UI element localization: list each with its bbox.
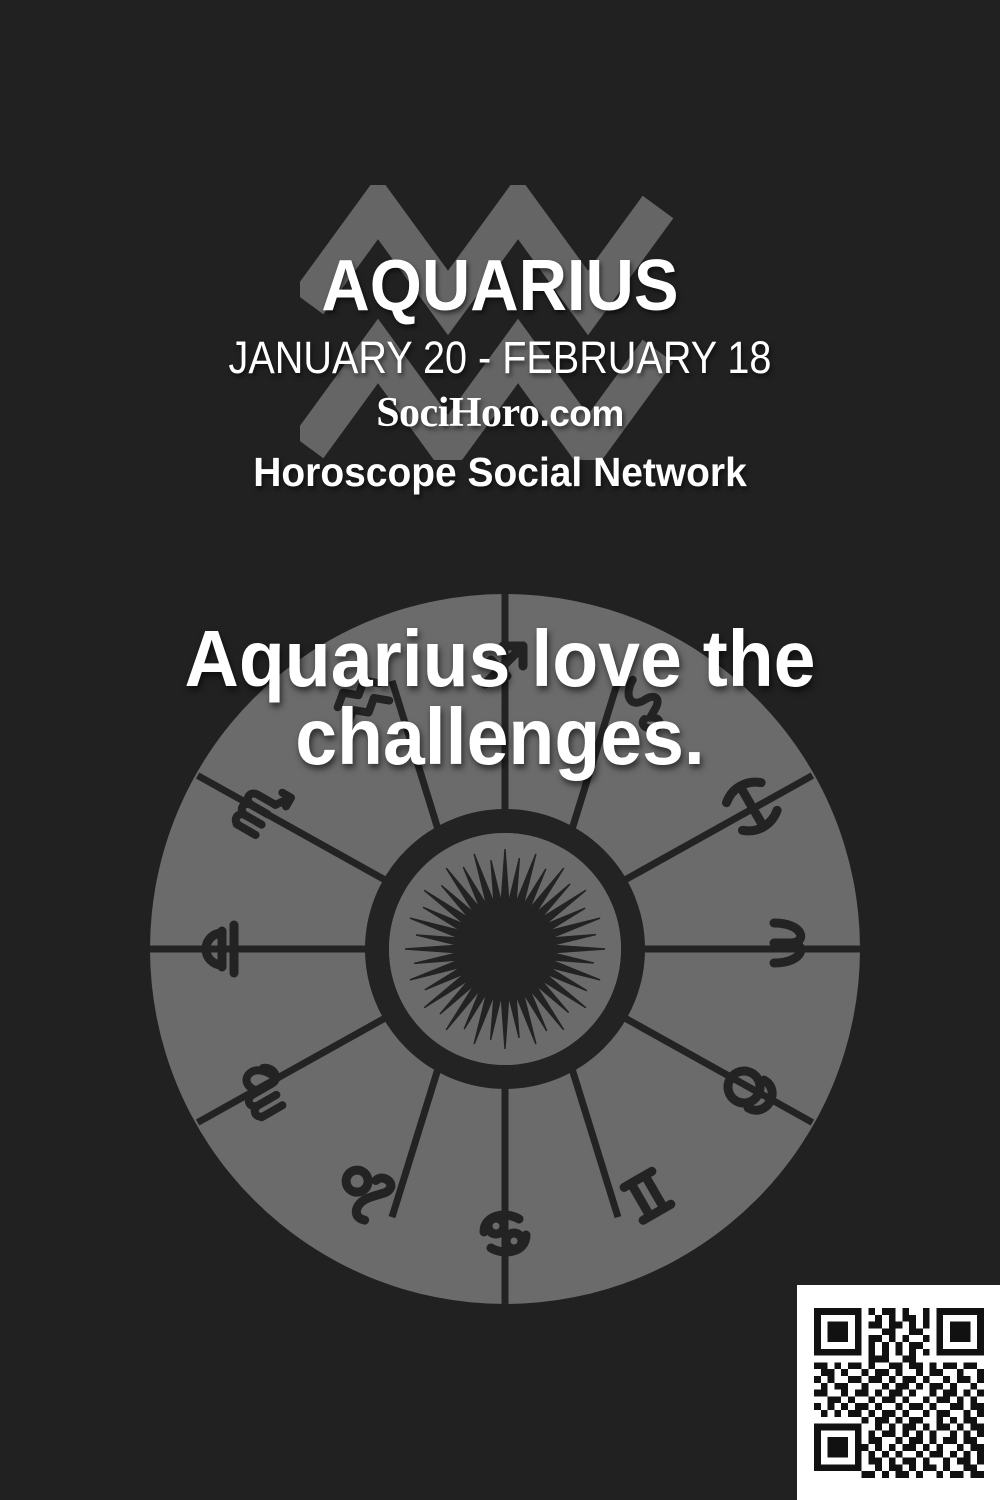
horoscope-poster: AQUARIUS JANUARY 20 - FEBRUARY 18 SociHo… xyxy=(0,0,1000,1500)
sign-date-range: JANUARY 20 - FEBRUARY 18 xyxy=(60,335,940,380)
zodiac-symbol-cancer xyxy=(484,1215,526,1252)
brand-wordmark: SociHoro.com xyxy=(0,392,1000,443)
qr-code-icon[interactable] xyxy=(797,1285,1000,1500)
page-title: AQUARIUS xyxy=(35,250,965,322)
brand-tagline: Horoscope Social Network xyxy=(25,452,975,493)
horoscope-quote: Aquarius love the challenges. xyxy=(30,620,970,776)
brand-tld: .com xyxy=(539,393,623,434)
brand-name: SociHoro xyxy=(376,390,539,436)
